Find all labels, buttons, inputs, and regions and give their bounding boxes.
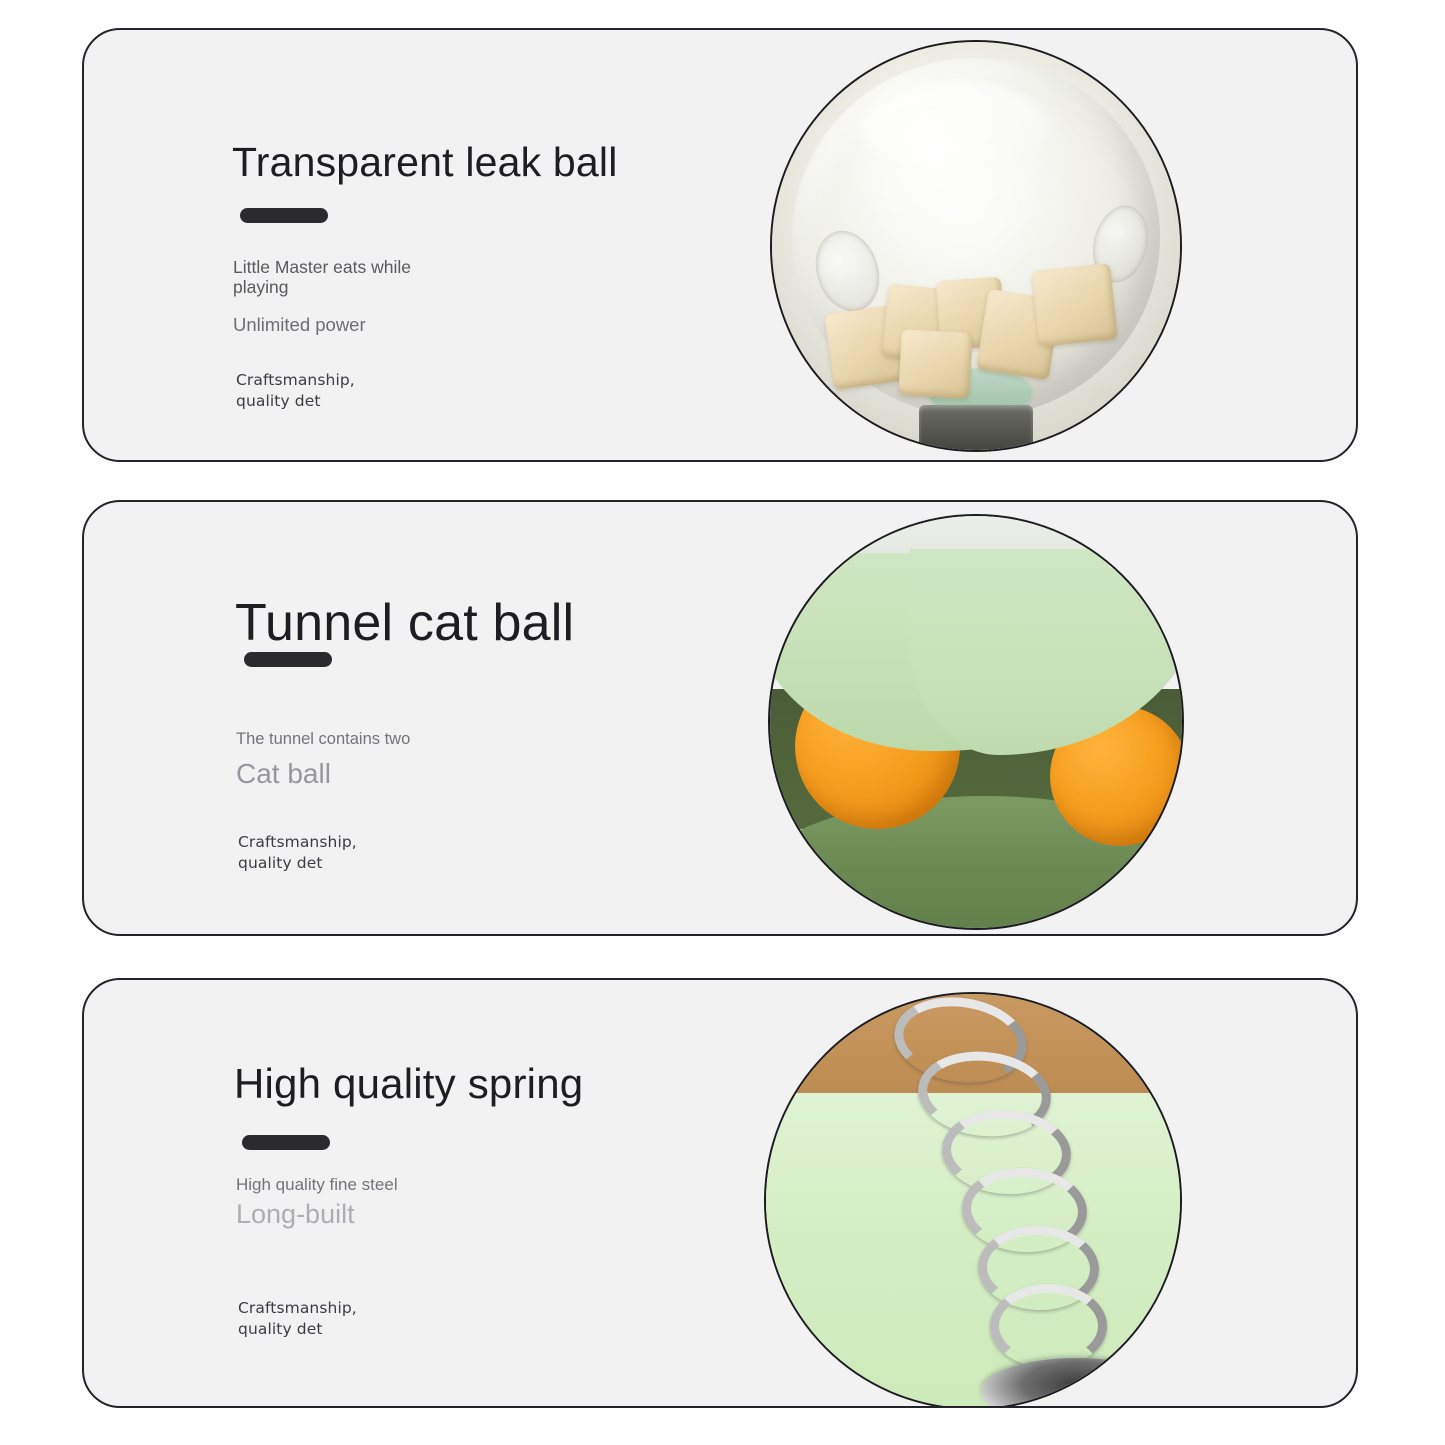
- footnote-text: Craftsmanship,quality det: [236, 370, 355, 412]
- feature-card-transparent-leak-ball: Transparent leak ball Little Master eats…: [82, 28, 1358, 462]
- card-title: Tunnel cat ball: [235, 597, 574, 649]
- feature-card-high-quality-spring: High quality spring High quality fine st…: [82, 978, 1358, 1408]
- accent-bar: [240, 208, 328, 223]
- photo-scene: [770, 516, 1182, 928]
- photo-scene: [772, 42, 1180, 450]
- footnote-line-2: quality det: [238, 854, 323, 872]
- accent-bar: [244, 652, 332, 667]
- feature-block: The tunnel contains two Cat ball: [236, 730, 410, 790]
- card-text-column: High quality spring High quality fine st…: [232, 980, 792, 1406]
- coil-spring-shape: [890, 994, 1089, 1408]
- feature-emphasis-text: Unlimited power: [233, 315, 448, 335]
- treat-cube: [898, 329, 972, 399]
- feature-lead-text: The tunnel contains two: [236, 730, 410, 749]
- spring-icon: [1107, 524, 1133, 568]
- feature-block: High quality fine steel Long-built: [236, 1175, 398, 1230]
- card-title: High quality spring: [234, 1063, 583, 1105]
- footnote-line-1: Craftsmanship,: [236, 371, 355, 389]
- feature-lead-text: High quality fine steel: [236, 1175, 398, 1194]
- card-text-column: Transparent leak ball Little Master eats…: [232, 30, 792, 460]
- footnote-text: Craftsmanship,quality det: [238, 832, 357, 874]
- treat-cubes-group: [829, 275, 1123, 397]
- card-text-column: Tunnel cat ball The tunnel contains two …: [232, 502, 792, 934]
- treat-cube: [1031, 263, 1118, 347]
- ball-base-mount: [919, 405, 1033, 450]
- footnote-line-2: quality det: [238, 1320, 323, 1338]
- footnote-line-1: Craftsmanship,: [238, 833, 357, 851]
- footnote-text: Craftsmanship,quality det: [238, 1298, 357, 1340]
- product-feature-infographic: Transparent leak ball Little Master eats…: [0, 0, 1445, 1445]
- coil-turn: [990, 1284, 1107, 1368]
- feature-card-tunnel-cat-ball: Tunnel cat ball The tunnel contains two …: [82, 500, 1358, 936]
- feature-emphasis-text: Long-built: [236, 1200, 398, 1230]
- product-photo-tunnel-cat-ball: [768, 514, 1184, 930]
- feature-block: Little Master eats while playing Unlimit…: [233, 258, 448, 335]
- card-title: Transparent leak ball: [232, 142, 618, 183]
- product-photo-coil-spring: [764, 992, 1182, 1408]
- photo-scene: [766, 994, 1180, 1408]
- product-photo-transparent-leak-ball: [770, 40, 1182, 452]
- footnote-line-1: Craftsmanship,: [238, 1299, 357, 1317]
- sphere-highlight: [862, 83, 1050, 173]
- accent-bar: [242, 1135, 330, 1150]
- feature-emphasis-text: Cat ball: [236, 759, 410, 790]
- footnote-line-2: quality det: [236, 392, 321, 410]
- feature-lead-text: Little Master eats while playing: [233, 258, 448, 298]
